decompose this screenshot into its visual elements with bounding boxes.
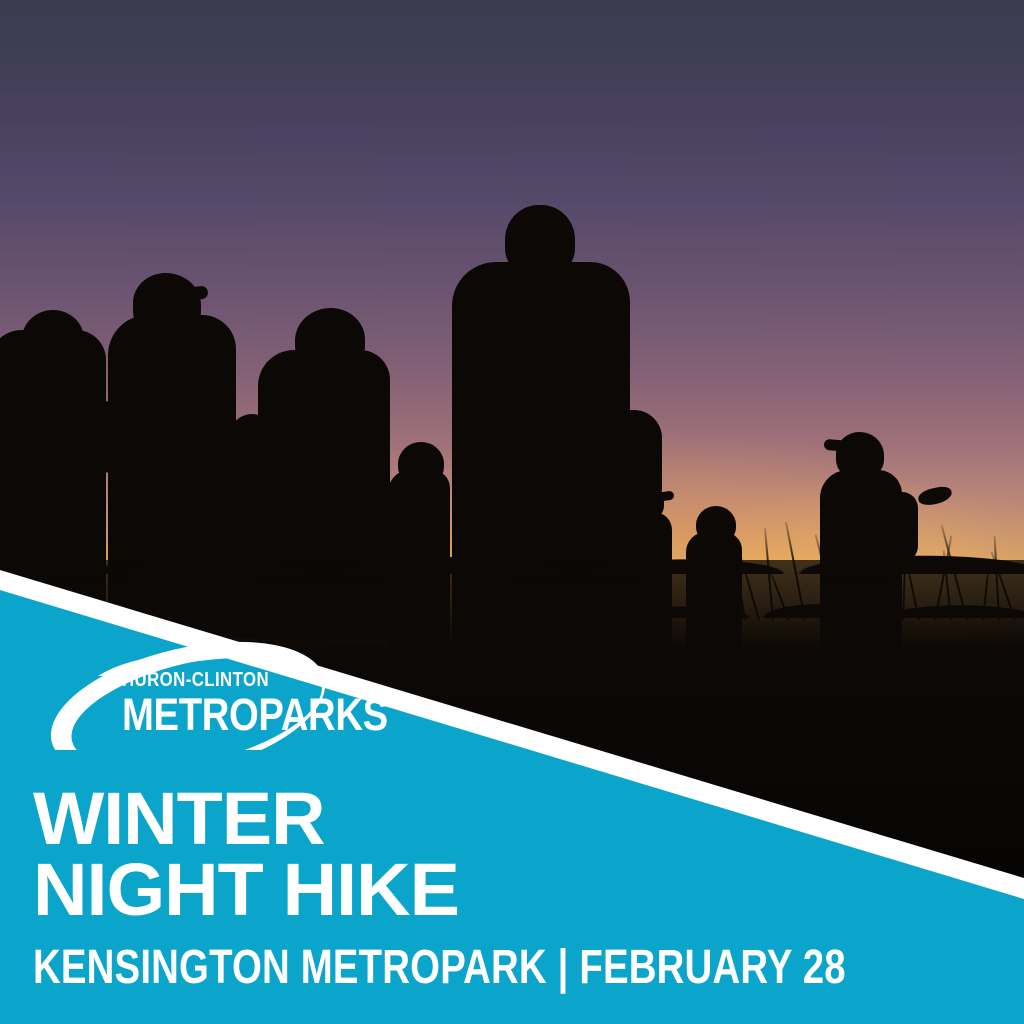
logo-wordmark: HURON-CLINTON METROPARKS (122, 670, 435, 739)
logo-line-metroparks: METROPARKS (122, 692, 388, 739)
headline-line-2: NIGHT HIKE (33, 854, 459, 925)
headline-block: WINTER NIGHT HIKE (33, 783, 451, 925)
logo-line-huron-clinton: HURON-CLINTON (122, 670, 385, 690)
event-subtitle: KENSINGTON METROPARK | FEBRUARY 28 (33, 944, 846, 992)
poster: HURON-CLINTON METROPARKS WINTER NIGHT HI… (0, 0, 1024, 1024)
headline-line-1: WINTER (33, 783, 459, 854)
metroparks-logo[interactable]: HURON-CLINTON METROPARKS (36, 632, 326, 750)
